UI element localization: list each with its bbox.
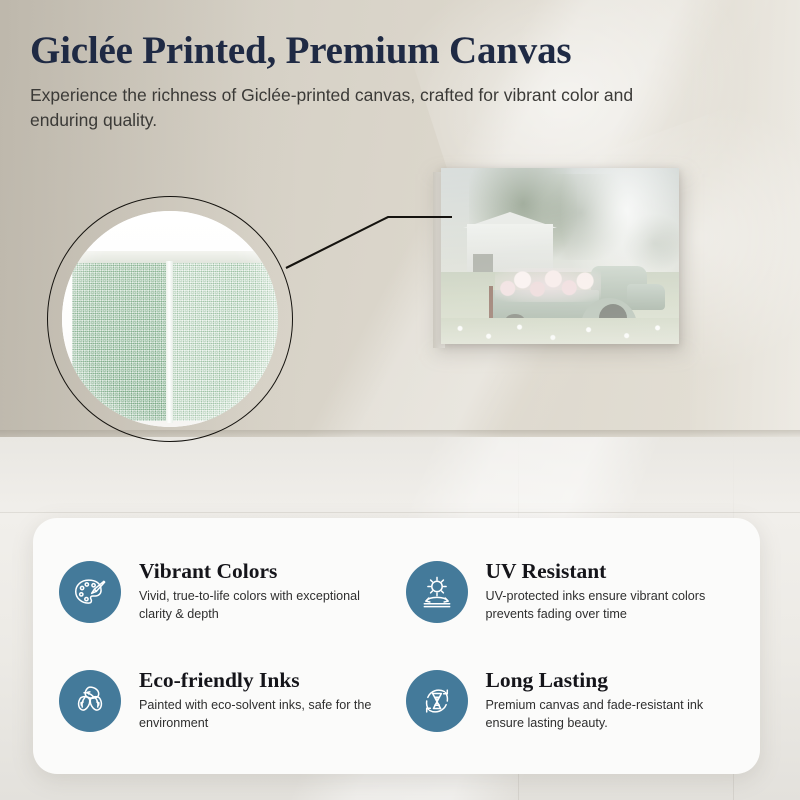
feature-uv-resistant: UV Resistant UV-protected inks ensure vi… [406,540,735,643]
promo-scene: Giclée Printed, Premium Canvas Experienc… [0,0,800,800]
feature-text-block: Vibrant Colors Vivid, true-to-life color… [139,559,388,624]
paint-palette-icon [59,561,121,623]
page-title: Giclée Printed, Premium Canvas [30,28,730,74]
floor-tile-line [0,512,800,513]
features-card: Vibrant Colors Vivid, true-to-life color… [33,518,760,774]
feature-text-block: UV Resistant UV-protected inks ensure vi… [486,559,735,624]
page-subtitle: Experience the richness of Giclée-printe… [30,83,690,134]
feature-title: Vibrant Colors [139,559,388,584]
feature-description: Premium canvas and fade-resistant ink en… [486,697,735,733]
feature-title: Long Lasting [486,668,735,693]
artwork-atmospheric-haze [441,168,679,344]
canvas-artwork [441,168,679,344]
canvas-printed-face [441,168,679,344]
feature-title: Eco-friendly Inks [139,668,388,693]
sun-uv-shield-icon [406,561,468,623]
feature-text-block: Eco-friendly Inks Painted with eco-solve… [139,668,388,733]
recycle-leaves-icon [59,670,121,732]
features-grid: Vibrant Colors Vivid, true-to-life color… [59,540,734,752]
feature-eco-friendly-inks: Eco-friendly Inks Painted with eco-solve… [59,649,388,752]
header-block: Giclée Printed, Premium Canvas Experienc… [30,28,730,134]
magnifier-ring-outline [47,196,293,442]
feature-long-lasting: Long Lasting Premium canvas and fade-res… [406,649,735,752]
feature-vibrant-colors: Vibrant Colors Vivid, true-to-life color… [59,540,388,643]
feature-description: UV-protected inks ensure vibrant colors … [486,588,735,624]
feature-title: UV Resistant [486,559,735,584]
hourglass-cycle-icon [406,670,468,732]
feature-description: Vivid, true-to-life colors with exceptio… [139,588,388,624]
feature-text-block: Long Lasting Premium canvas and fade-res… [486,668,735,733]
feature-description: Painted with eco-solvent inks, safe for … [139,697,388,733]
